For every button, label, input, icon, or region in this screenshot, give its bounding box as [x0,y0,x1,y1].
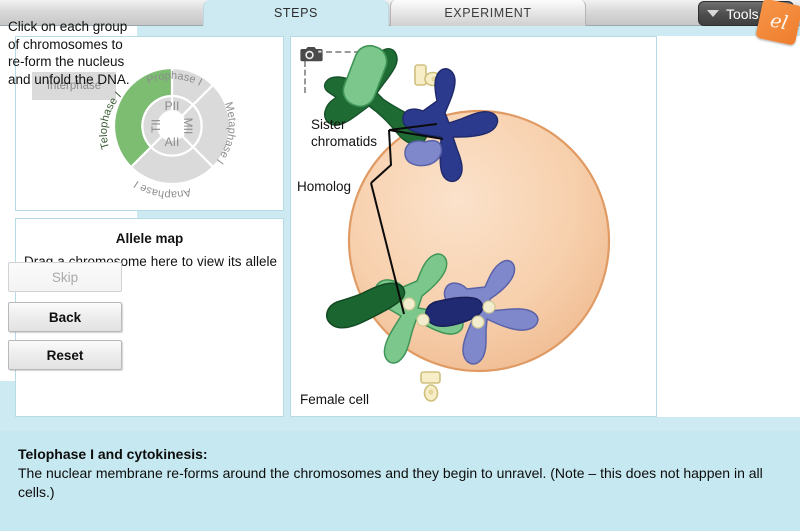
tab-experiment[interactable]: EXPERIMENT [390,0,586,26]
tab-experiment-label: EXPERIMENT [444,6,531,20]
cell-illustration[interactable] [291,37,658,418]
back-button[interactable]: Back [8,302,122,332]
stage-panel: Sister chromatids Homolog Female cell [290,36,657,417]
tab-steps[interactable]: STEPS [203,0,389,26]
cell-type-label: Female cell [300,392,369,407]
cycle-label-aii: AII [165,135,180,149]
explorelearning-logo: el [755,0,800,46]
skip-button-label: Skip [52,270,78,285]
caption-title: Telophase I and cytokinesis: [18,445,782,464]
label-sister-chromatids-line1: Sister [311,116,377,133]
side-panel-background [657,36,800,417]
cycle-label-mii: MII [181,118,195,135]
back-button-label: Back [49,310,81,325]
allele-map-title: Allele map [16,231,283,246]
label-sister-chromatids-line2: chromatids [311,133,377,150]
sister-chromatid-light-blue-top[interactable] [405,141,441,166]
tools-button-label: Tools [726,6,759,22]
label-sister-chromatids: Sister chromatids [311,116,377,150]
reset-button[interactable]: Reset [8,340,122,370]
cycle-label-pii: PII [165,99,180,113]
skip-button[interactable]: Skip [8,262,122,292]
chevron-down-icon [707,10,719,17]
logo-text: el [768,9,790,34]
tab-steps-label: STEPS [274,6,318,20]
reset-button-label: Reset [47,348,84,363]
caption-bar: Telophase I and cytokinesis: The nuclear… [0,431,800,531]
centriole-icon-bottom [421,372,440,401]
caption-body: The nuclear membrane re-forms around the… [18,464,782,502]
cycle-label-tii: TII [149,119,163,133]
instructions-text: Click on each group of chromosomes to re… [8,18,136,88]
label-homolog: Homolog [297,178,351,195]
